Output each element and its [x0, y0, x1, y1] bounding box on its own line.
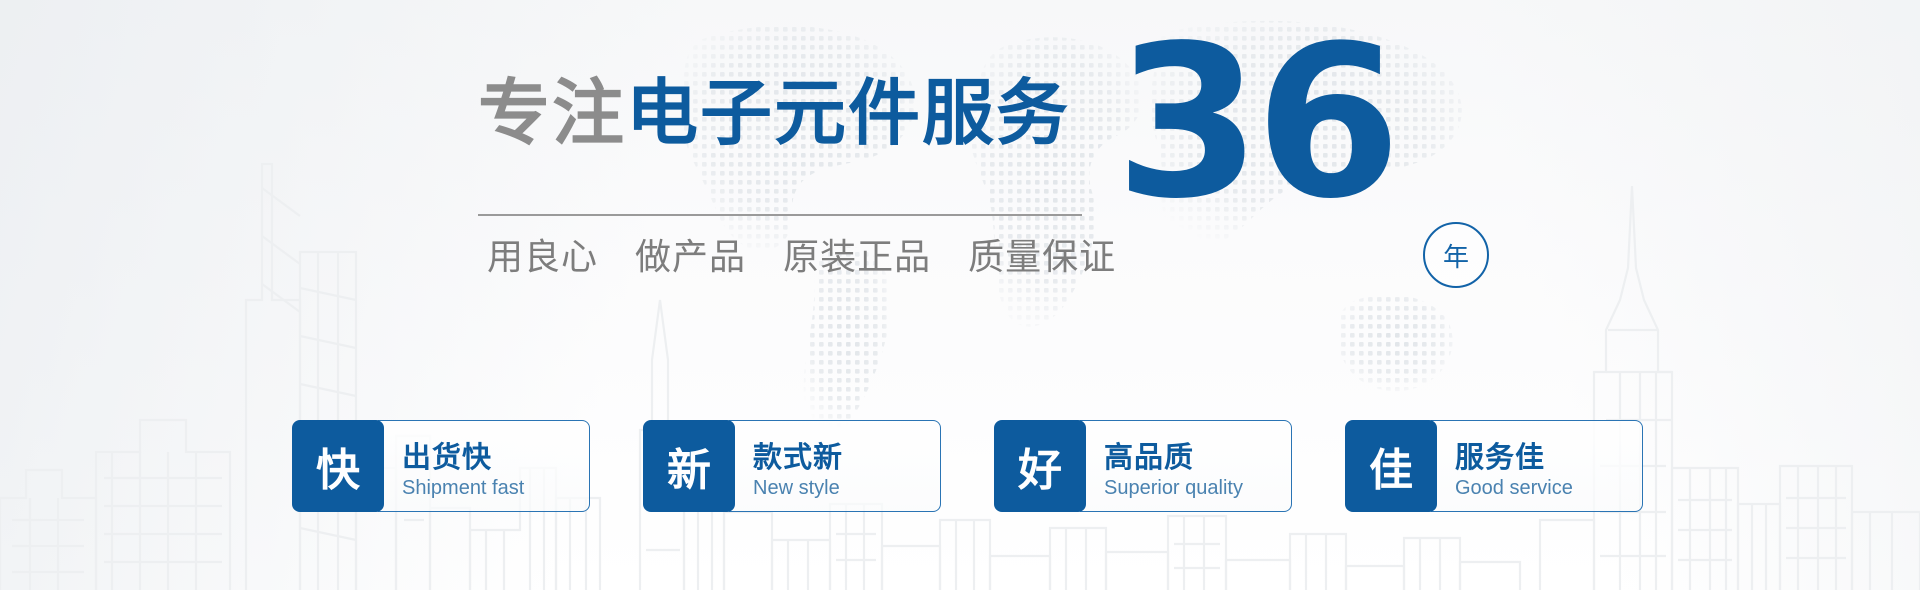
subline-item-0: 用良心 [487, 236, 598, 277]
banner-content: 专注 电子元件服务 36 年 用良心 做产品 原装正品 质量保证 快 出货快 S… [0, 0, 1920, 590]
subline: 用良心 做产品 原装正品 质量保证 [487, 228, 1116, 280]
feature-card-title-cn: 出货快 [402, 442, 563, 474]
subline-item-3: 质量保证 [968, 236, 1116, 277]
years-unit-badge: 年 [1423, 222, 1489, 288]
headline-blue-text: 电子元件服务 [626, 78, 1070, 150]
feature-card-title-en: Superior quality [1104, 476, 1265, 501]
feature-card-title-en: New style [753, 476, 914, 501]
feature-card-shipment[interactable]: 快 出货快 Shipment fast [292, 420, 590, 512]
headline: 专注 电子元件服务 [478, 78, 1070, 150]
feature-card-title-en: Shipment fast [402, 476, 563, 501]
feature-card-badge: 新 [643, 420, 735, 512]
feature-card-title-en: Good service [1455, 476, 1616, 501]
feature-card-service[interactable]: 佳 服务佳 Good service [1345, 420, 1643, 512]
feature-card-body: 款式新 New style [729, 420, 941, 512]
feature-card-badge: 快 [292, 420, 384, 512]
feature-card-title-cn: 高品质 [1104, 442, 1265, 474]
feature-card-style[interactable]: 新 款式新 New style [643, 420, 941, 512]
feature-card-body: 服务佳 Good service [1431, 420, 1643, 512]
feature-card-body: 高品质 Superior quality [1080, 420, 1292, 512]
years-number: 36 [1115, 18, 1395, 228]
feature-card-body: 出货快 Shipment fast [378, 420, 590, 512]
feature-card-title-cn: 服务佳 [1455, 442, 1616, 474]
feature-card-title-cn: 款式新 [753, 442, 914, 474]
subline-item-1: 做产品 [635, 236, 746, 277]
feature-card-list: 快 出货快 Shipment fast 新 款式新 New style 好 高品… [292, 420, 1643, 512]
feature-card-quality[interactable]: 好 高品质 Superior quality [994, 420, 1292, 512]
promo-banner: 专注 电子元件服务 36 年 用良心 做产品 原装正品 质量保证 快 出货快 S… [0, 0, 1920, 590]
headline-divider [478, 214, 1082, 216]
headline-gray-text: 专注 [478, 78, 626, 150]
feature-card-badge: 佳 [1345, 420, 1437, 512]
subline-item-2: 原装正品 [783, 236, 931, 277]
feature-card-badge: 好 [994, 420, 1086, 512]
